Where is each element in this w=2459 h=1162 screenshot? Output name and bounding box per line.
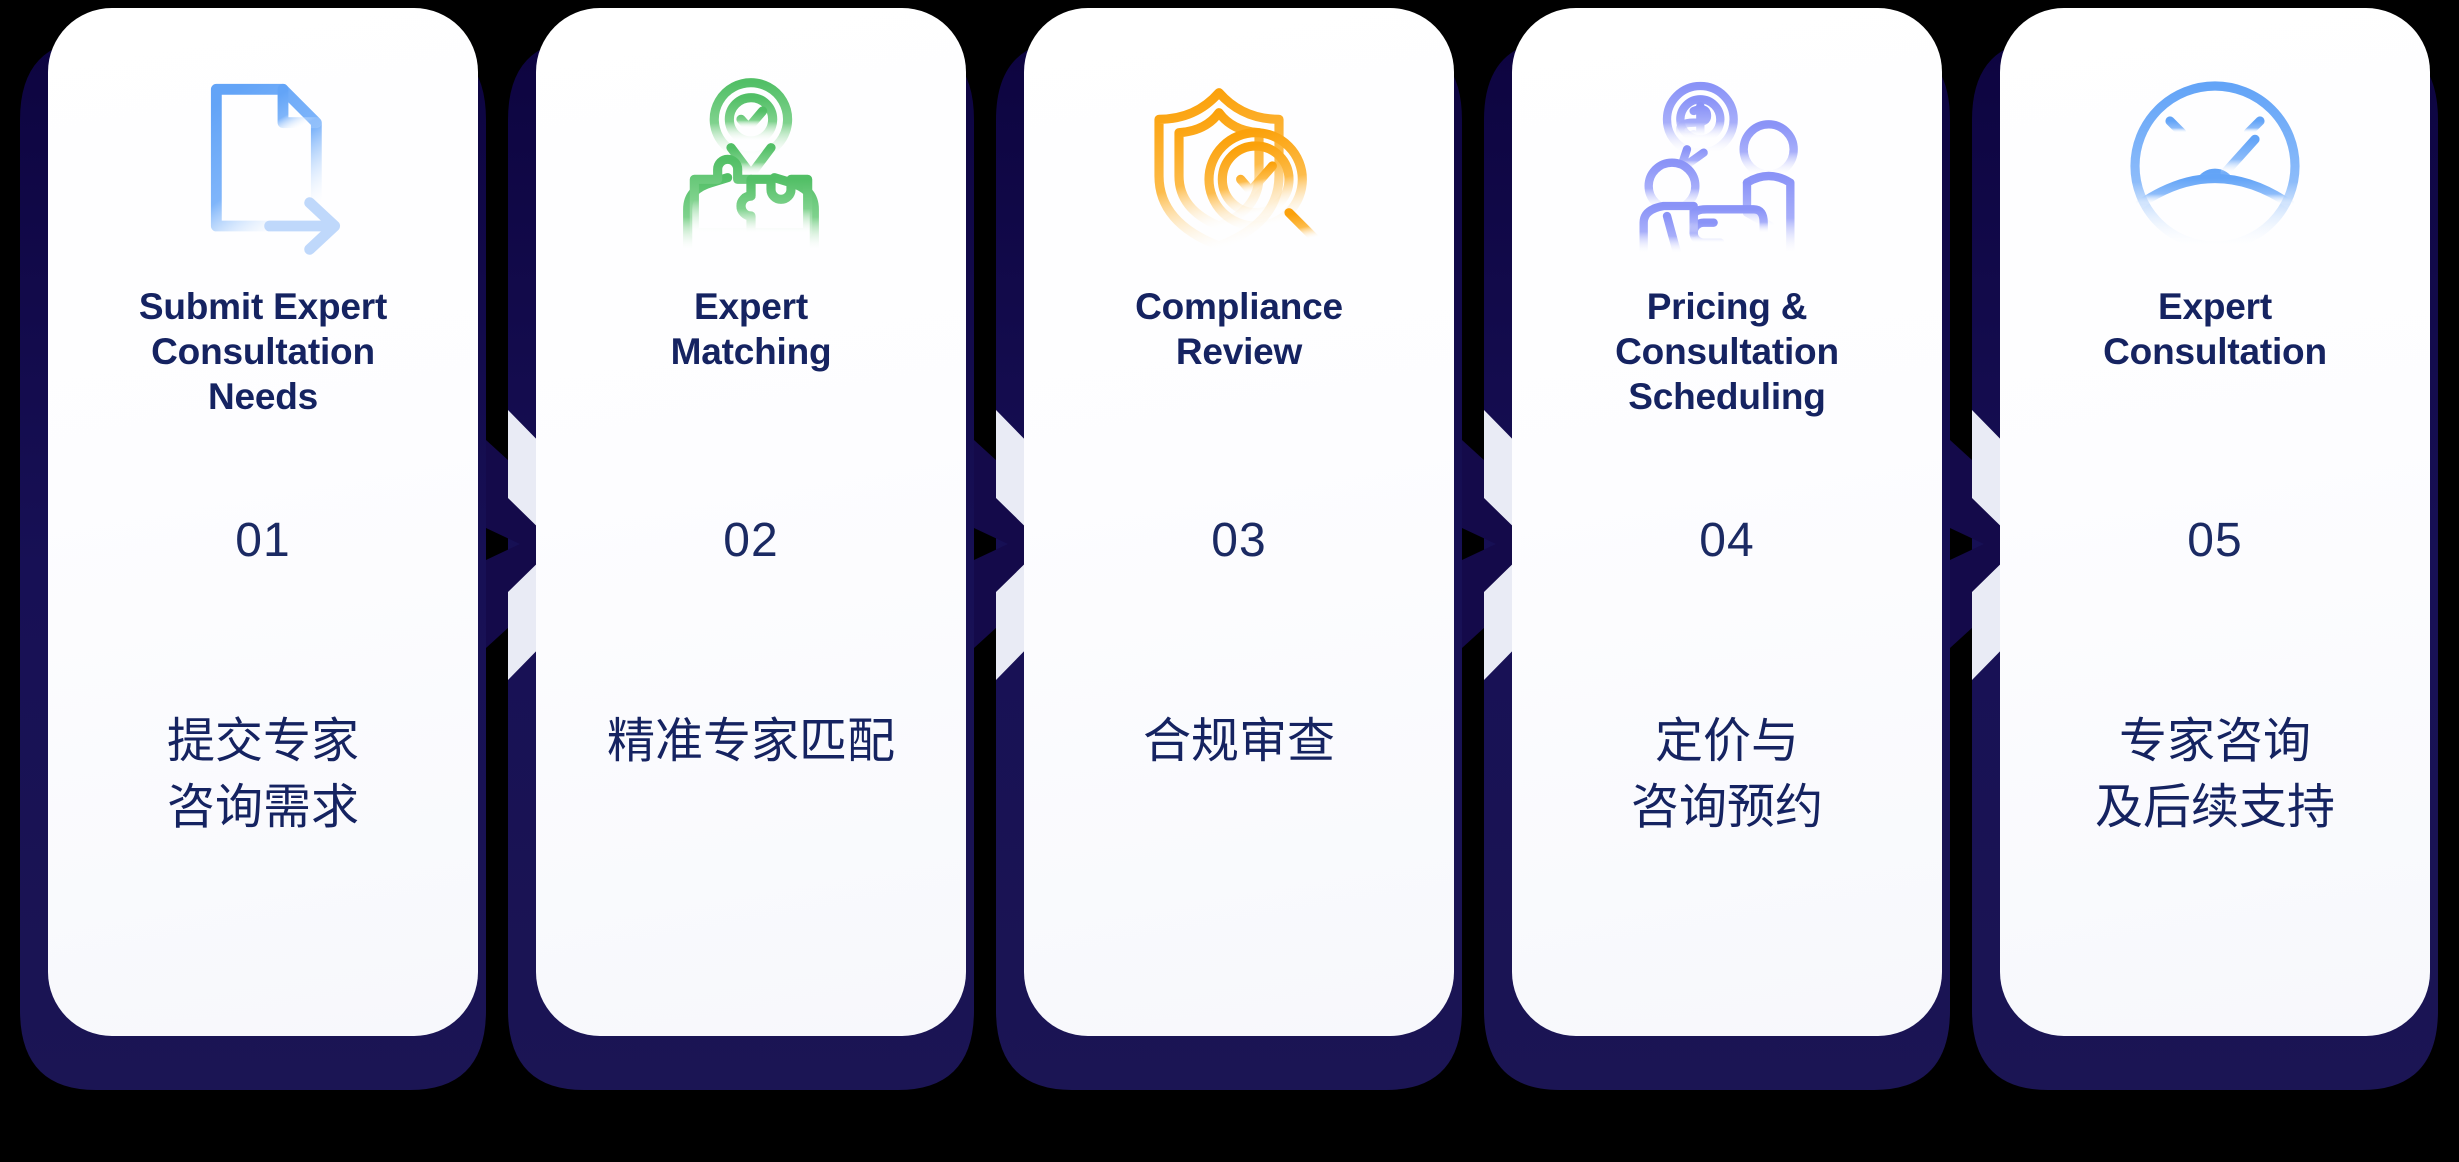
step-card-1[interactable]: Submit Expert Consultation Needs 01 提交专家… bbox=[48, 8, 478, 1036]
step-title: Expert Consultation bbox=[2103, 284, 2327, 374]
step-card-5[interactable]: Expert Consultation 05 专家咨询 及后续支持 bbox=[2000, 8, 2430, 1036]
people-dollar-speech-icon bbox=[1627, 66, 1827, 266]
step-number: 02 bbox=[536, 513, 966, 568]
step-caption-cn: 提交专家 咨询需求 bbox=[48, 708, 478, 840]
document-arrow-icon bbox=[163, 66, 363, 266]
shield-magnifier-check-icon bbox=[1139, 66, 1339, 266]
step-number: 01 bbox=[48, 513, 478, 568]
gauge-speedometer-icon bbox=[2115, 66, 2315, 266]
process-flow-infographic: Submit Expert Consultation Needs 01 提交专家… bbox=[0, 0, 2459, 1157]
step-number: 03 bbox=[1024, 513, 1454, 568]
step-caption-cn: 专家咨询 及后续支持 bbox=[2000, 708, 2430, 840]
step-card-3[interactable]: Compliance Review 03 合规审查 bbox=[1024, 8, 1454, 1036]
person-puzzle-check-icon bbox=[651, 66, 851, 266]
step-card-4[interactable]: Pricing & Consultation Scheduling 04 定价与… bbox=[1512, 8, 1942, 1036]
step-title: Submit Expert Consultation Needs bbox=[139, 284, 387, 419]
step-number: 05 bbox=[2000, 513, 2430, 568]
cards-container: Submit Expert Consultation Needs 01 提交专家… bbox=[0, 0, 2459, 1157]
step-title: Expert Matching bbox=[671, 284, 832, 374]
step-number: 04 bbox=[1512, 513, 1942, 568]
step-title: Compliance Review bbox=[1135, 284, 1343, 374]
step-title: Pricing & Consultation Scheduling bbox=[1615, 284, 1839, 419]
step-caption-cn: 精准专家匹配 bbox=[536, 708, 966, 774]
step-caption-cn: 定价与 咨询预约 bbox=[1512, 708, 1942, 840]
step-card-2[interactable]: Expert Matching 02 精准专家匹配 bbox=[536, 8, 966, 1036]
step-caption-cn: 合规审查 bbox=[1024, 708, 1454, 774]
